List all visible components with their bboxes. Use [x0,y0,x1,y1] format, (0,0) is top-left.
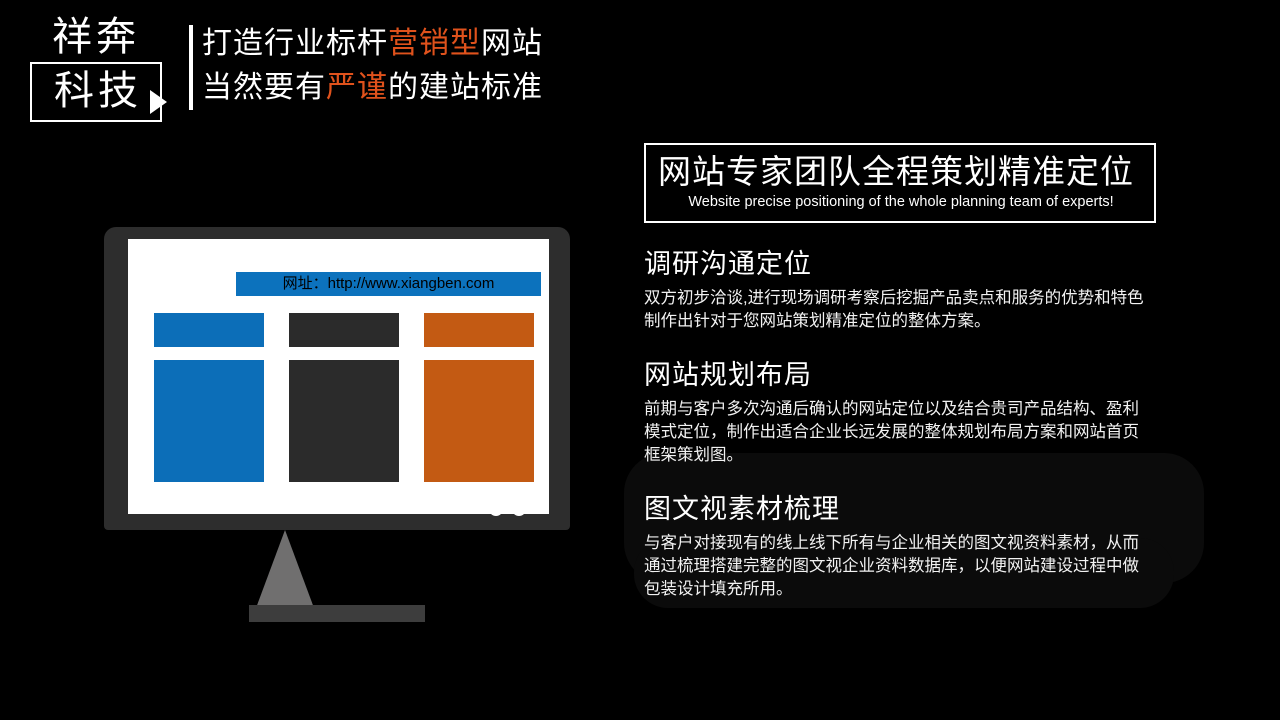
header-divider [189,25,193,110]
brand-tagline: 打造行业标杆营销型网站 当然要有严谨的建站标准 [202,22,602,110]
tagline-line-2-part-b: 的建站标准 [388,71,543,104]
section-3-body: 与客户对接现有的线上线下所有与企业相关的图文视资料素材，从而通过梳理搭建完整的图… [644,532,1148,601]
slide-header: 祥奔 科技 打造行业标杆营销型网站 当然要有严谨的建站标准 [0,0,620,140]
brand-logo: 祥奔 科技 [30,14,162,122]
section-2-title: 网站规划布局 [644,356,1156,394]
panel-title-en: Website precise positioning of the whole… [658,192,1144,212]
monitor-stand-neck [256,530,314,608]
monitor-stand-base [249,605,425,622]
tagline-line-2-part-a: 当然要有 [202,71,326,104]
monitor-screen: 网址：http://www.xiangben.com [128,239,549,514]
wireframe-block-2-2 [289,360,399,482]
content-section-3: 图文视素材梳理 与客户对接现有的线上线下所有与企业相关的图文视资料素材，从而通过… [644,490,1156,601]
section-1-title: 调研沟通定位 [644,245,1156,283]
brand-logo-boxed: 科技 [30,62,162,122]
slide-root: 祥奔 科技 打造行业标杆营销型网站 当然要有严谨的建站标准 网址：http://… [0,0,1280,720]
monitor-indicator-lights [489,502,526,516]
brand-logo-top: 祥奔 [30,14,162,60]
monitor-illustration: 网址：http://www.xiangben.com [104,227,570,530]
section-3-title: 图文视素材梳理 [644,490,1156,528]
wireframe-row-2 [154,360,535,482]
wireframe-row-1 [154,313,535,347]
tagline-line-1-part-b: 网站 [481,27,543,60]
status-led-icon [512,502,526,516]
power-led-icon [489,502,503,516]
tagline-line-1-part-a: 打造行业标杆 [202,27,388,60]
content-panel: 网站专家团队全程策划精准定位 Website precise positioni… [644,143,1156,601]
play-triangle-icon [150,90,167,114]
tagline-line-1-accent: 营销型 [388,27,481,60]
tagline-line-2: 当然要有严谨的建站标准 [202,66,602,110]
wireframe-block-1-2 [289,313,399,347]
wireframe-blocks [154,313,535,482]
tagline-line-1: 打造行业标杆营销型网站 [202,22,602,66]
panel-title-box: 网站专家团队全程策划精准定位 Website precise positioni… [644,143,1156,223]
content-section-1: 调研沟通定位 双方初步洽谈,进行现场调研考察后挖掘产品卖点和服务的优势和特色制作… [644,245,1156,333]
url-bar: 网址：http://www.xiangben.com [236,272,541,296]
section-1-body: 双方初步洽谈,进行现场调研考察后挖掘产品卖点和服务的优势和特色制作出针对于您网站… [644,287,1148,333]
panel-title-cn: 网站专家团队全程策划精准定位 [658,152,1144,192]
section-2-body: 前期与客户多次沟通后确认的网站定位以及结合贵司产品结构、盈利模式定位，制作出适合… [644,398,1148,467]
wireframe-block-1-1 [154,313,264,347]
wireframe-block-1-3 [424,313,534,347]
tagline-line-2-accent: 严谨 [326,71,388,104]
content-section-2: 网站规划布局 前期与客户多次沟通后确认的网站定位以及结合贵司产品结构、盈利模式定… [644,356,1156,467]
wireframe-block-2-3 [424,360,534,482]
wireframe-block-2-1 [154,360,264,482]
